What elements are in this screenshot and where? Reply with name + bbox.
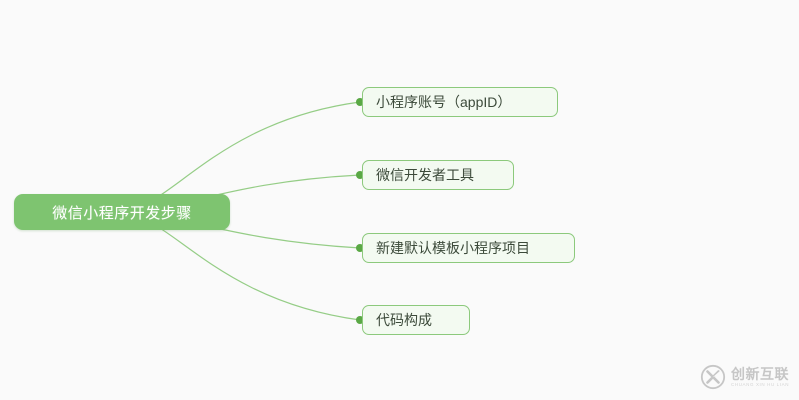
mindmap-branch-node-2[interactable]: 微信开发者工具 — [362, 160, 514, 190]
mindmap-canvas: 微信小程序开发步骤 小程序账号（appID） 微信开发者工具 新建默认模板小程序… — [0, 0, 799, 400]
mindmap-branch-label-2: 微信开发者工具 — [376, 168, 474, 182]
watermark-text: 创新互联 CHUANG XIN HU LIAN — [731, 367, 789, 388]
mindmap-branch-node-4[interactable]: 代码构成 — [362, 305, 470, 335]
mindmap-branch-label-4: 代码构成 — [376, 313, 432, 327]
mindmap-branch-label-1: 小程序账号（appID） — [376, 95, 511, 109]
circle-x-logo-icon — [700, 364, 726, 390]
watermark-name-cn: 创新互联 — [731, 367, 789, 381]
mindmap-root-node[interactable]: 微信小程序开发步骤 — [14, 194, 230, 230]
mindmap-branch-node-1[interactable]: 小程序账号（appID） — [362, 87, 558, 117]
mindmap-root-label: 微信小程序开发步骤 — [52, 202, 192, 223]
watermark: 创新互联 CHUANG XIN HU LIAN — [700, 361, 792, 393]
watermark-name-en: CHUANG XIN HU LIAN — [731, 383, 789, 388]
mindmap-branch-label-3: 新建默认模板小程序项目 — [376, 241, 530, 255]
mindmap-branch-node-3[interactable]: 新建默认模板小程序项目 — [362, 233, 575, 263]
